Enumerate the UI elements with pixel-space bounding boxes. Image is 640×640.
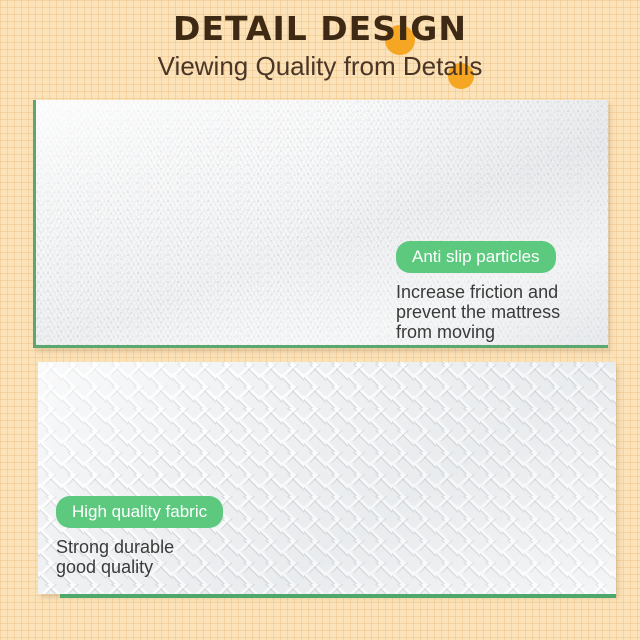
badge-anti-slip-particles: Anti slip particles [396, 241, 556, 273]
detail-design-poster: DETAIL DESIGN Viewing Quality from Detai… [0, 0, 640, 640]
bottom-green-rule [60, 594, 616, 598]
callout-anti-slip-particles: Anti slip particles Increase friction an… [396, 241, 606, 342]
description-anti-slip-particles: Increase friction and prevent the mattre… [396, 282, 606, 342]
title-group: DETAIL DESIGN Viewing Quality from Detai… [158, 10, 483, 82]
page-subtitle: Viewing Quality from Details [158, 50, 483, 82]
page-title: DETAIL DESIGN [158, 10, 483, 48]
header: DETAIL DESIGN Viewing Quality from Detai… [0, 0, 640, 96]
callout-high-quality-fabric: High quality fabric Strong durable good … [56, 496, 296, 577]
badge-high-quality-fabric: High quality fabric [56, 496, 223, 528]
description-high-quality-fabric: Strong durable good quality [56, 537, 296, 577]
